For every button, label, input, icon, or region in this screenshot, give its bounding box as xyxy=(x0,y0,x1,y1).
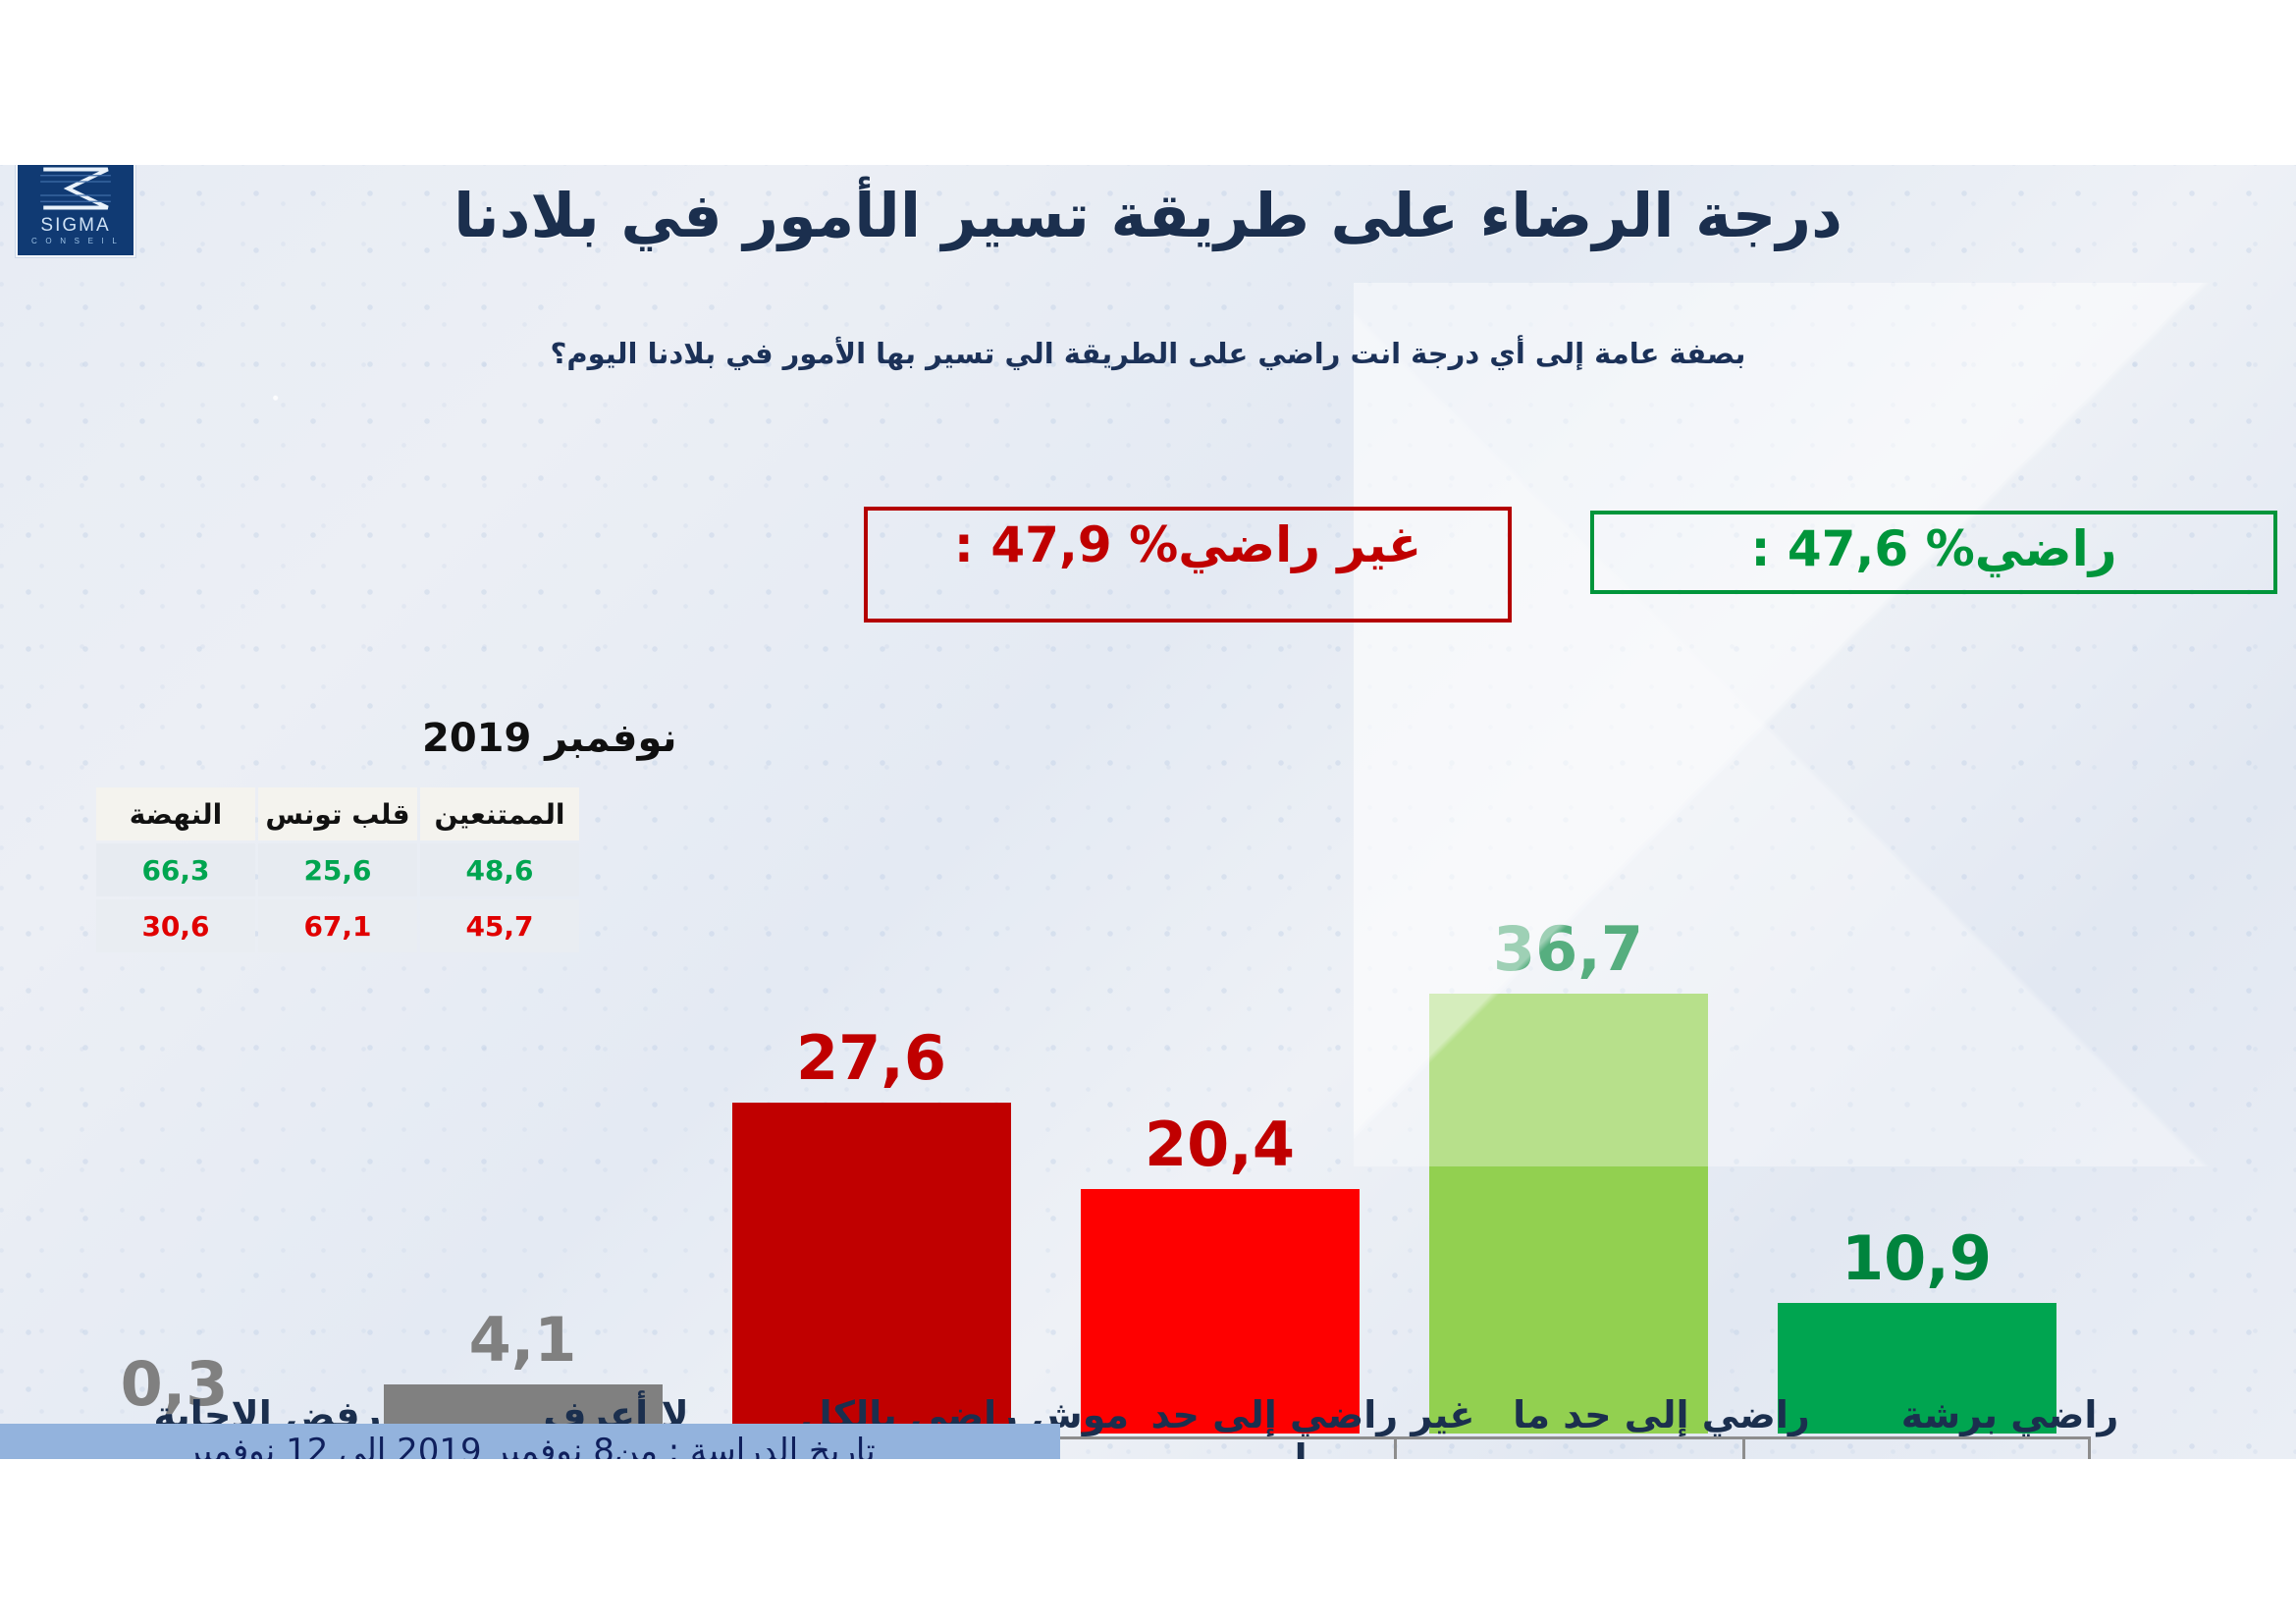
table-header-row: الممتنعين قلب تونس النهضة xyxy=(96,787,579,840)
chart-bar-slot: 10,9 xyxy=(1742,915,2091,1434)
page-subtitle: بصفة عامة إلى أي درجة انت راضي على الطري… xyxy=(0,337,2296,370)
chart-bar-value-label: 20,4 xyxy=(1045,1114,1394,1175)
logo-wordmark: SIGMA xyxy=(40,216,110,235)
chart-plot-area: 0,34,127,620,436,710,9 xyxy=(0,915,2091,1434)
table-cell: 45,7 xyxy=(420,899,579,952)
table-cell: 25,6 xyxy=(258,843,417,896)
chart-bar-value-label: 36,7 xyxy=(1394,919,1742,980)
table-cell: 48,6 xyxy=(420,843,579,896)
table-col-header: النهضة xyxy=(96,787,255,840)
table-row: 45,7 67,1 30,6 xyxy=(96,899,579,952)
party-breakdown-table: الممتنعين قلب تونس النهضة 48,6 25,6 66,3… xyxy=(93,785,582,955)
study-date-text: تاريخ الدراسة : من8 نوفمبر 2019 إلى 12 ن… xyxy=(185,1432,875,1459)
chart-category-label: راضي برشة xyxy=(1836,1394,2184,1437)
table-col-header: قلب تونس xyxy=(258,787,417,840)
chart-axis-tick xyxy=(1742,1437,1745,1459)
mini-table-title: نوفمبر 2019 xyxy=(422,716,677,761)
summary-box-unsatisfied: غير راضي% 47,9 : xyxy=(864,507,1512,623)
sigma-icon xyxy=(37,165,114,214)
chart-bar xyxy=(1429,994,1708,1434)
study-date-footer: تاريخ الدراسة : من8 نوفمبر 2019 إلى 12 ن… xyxy=(0,1424,1060,1459)
chart-bar-slot: 36,7 xyxy=(1394,915,1742,1434)
table-cell: 67,1 xyxy=(258,899,417,952)
summary-box-satisfied: راضي% 47,6 : xyxy=(1590,511,2277,594)
chart-bar-value-label: 4,1 xyxy=(348,1310,697,1371)
chart-bar-value-label: 27,6 xyxy=(697,1028,1045,1089)
page-title: درجة الرضاء على طريقة تسير الأمور في بلا… xyxy=(0,180,2296,251)
table-cell: 30,6 xyxy=(96,899,255,952)
chart-bar-value-label: 10,9 xyxy=(1742,1228,2091,1289)
sigma-conseil-logo: SIGMA C O N S E I L xyxy=(16,165,135,257)
logo-tagline: C O N S E I L xyxy=(31,238,120,245)
chart-axis-tick xyxy=(2088,1437,2091,1459)
chart-bar xyxy=(732,1103,1011,1434)
chart-bar-slot: 4,1 xyxy=(348,915,697,1434)
table-row: 48,6 25,6 66,3 xyxy=(96,843,579,896)
chart-bar-slot: 20,4 xyxy=(1045,915,1394,1434)
chart-bar-slot: 27,6 xyxy=(697,915,1045,1434)
chart-bar-slot: 0,3 xyxy=(0,915,348,1434)
slide-canvas: SIGMA C O N S E I L درجة الرضاء على طريق… xyxy=(0,165,2296,1459)
chart-category-label: راضي إلى حد ما xyxy=(1487,1394,1836,1437)
table-cell: 66,3 xyxy=(96,843,255,896)
table-col-header: الممتنعين xyxy=(420,787,579,840)
chart-category-label: غير راضي إلى حد ما xyxy=(1139,1394,1487,1459)
chart-axis-tick xyxy=(1394,1437,1397,1459)
